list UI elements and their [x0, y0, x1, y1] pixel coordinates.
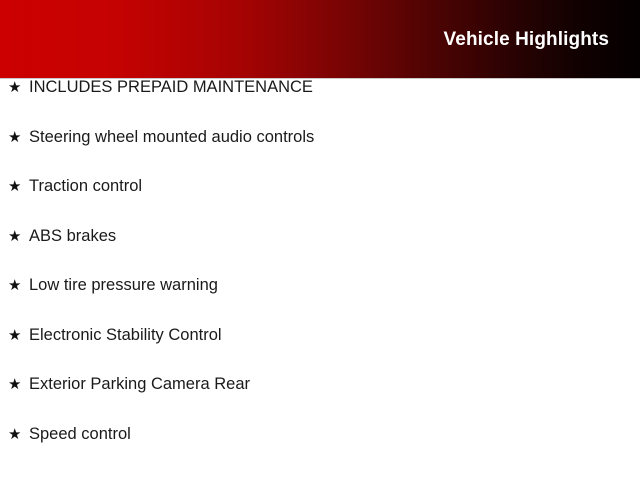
list-item: ★ Speed control: [0, 426, 640, 476]
star-icon: ★: [8, 179, 29, 194]
star-icon: ★: [8, 80, 29, 95]
list-item: ★ Electronic Stability Control: [0, 327, 640, 377]
star-icon: ★: [8, 377, 29, 392]
highlight-label: Electronic Stability Control: [29, 327, 222, 344]
list-item: ★ ABS brakes: [0, 228, 640, 278]
header-banner: Vehicle Highlights: [0, 0, 640, 78]
highlight-label: Steering wheel mounted audio controls: [29, 129, 314, 146]
list-item: ★ Traction control: [0, 178, 640, 228]
highlight-label: Exterior Parking Camera Rear: [29, 376, 250, 393]
vehicle-highlights-list: ★ INCLUDES PREPAID MAINTENANCE ★ Steerin…: [0, 79, 640, 475]
page-title: Vehicle Highlights: [444, 29, 609, 51]
star-icon: ★: [8, 328, 29, 343]
list-item: ★ INCLUDES PREPAID MAINTENANCE: [0, 79, 640, 129]
highlight-label: Low tire pressure warning: [29, 277, 218, 294]
highlight-label: INCLUDES PREPAID MAINTENANCE: [29, 79, 313, 96]
star-icon: ★: [8, 130, 29, 145]
star-icon: ★: [8, 229, 29, 244]
list-item: ★ Steering wheel mounted audio controls: [0, 129, 640, 179]
highlight-label: ABS brakes: [29, 228, 116, 245]
star-icon: ★: [8, 278, 29, 293]
vehicle-highlights-panel: Vehicle Highlights ★ INCLUDES PREPAID MA…: [0, 0, 640, 480]
star-icon: ★: [8, 427, 29, 442]
highlight-label: Speed control: [29, 426, 131, 443]
list-item: ★ Exterior Parking Camera Rear: [0, 376, 640, 426]
highlight-label: Traction control: [29, 178, 142, 195]
list-item: ★ Low tire pressure warning: [0, 277, 640, 327]
